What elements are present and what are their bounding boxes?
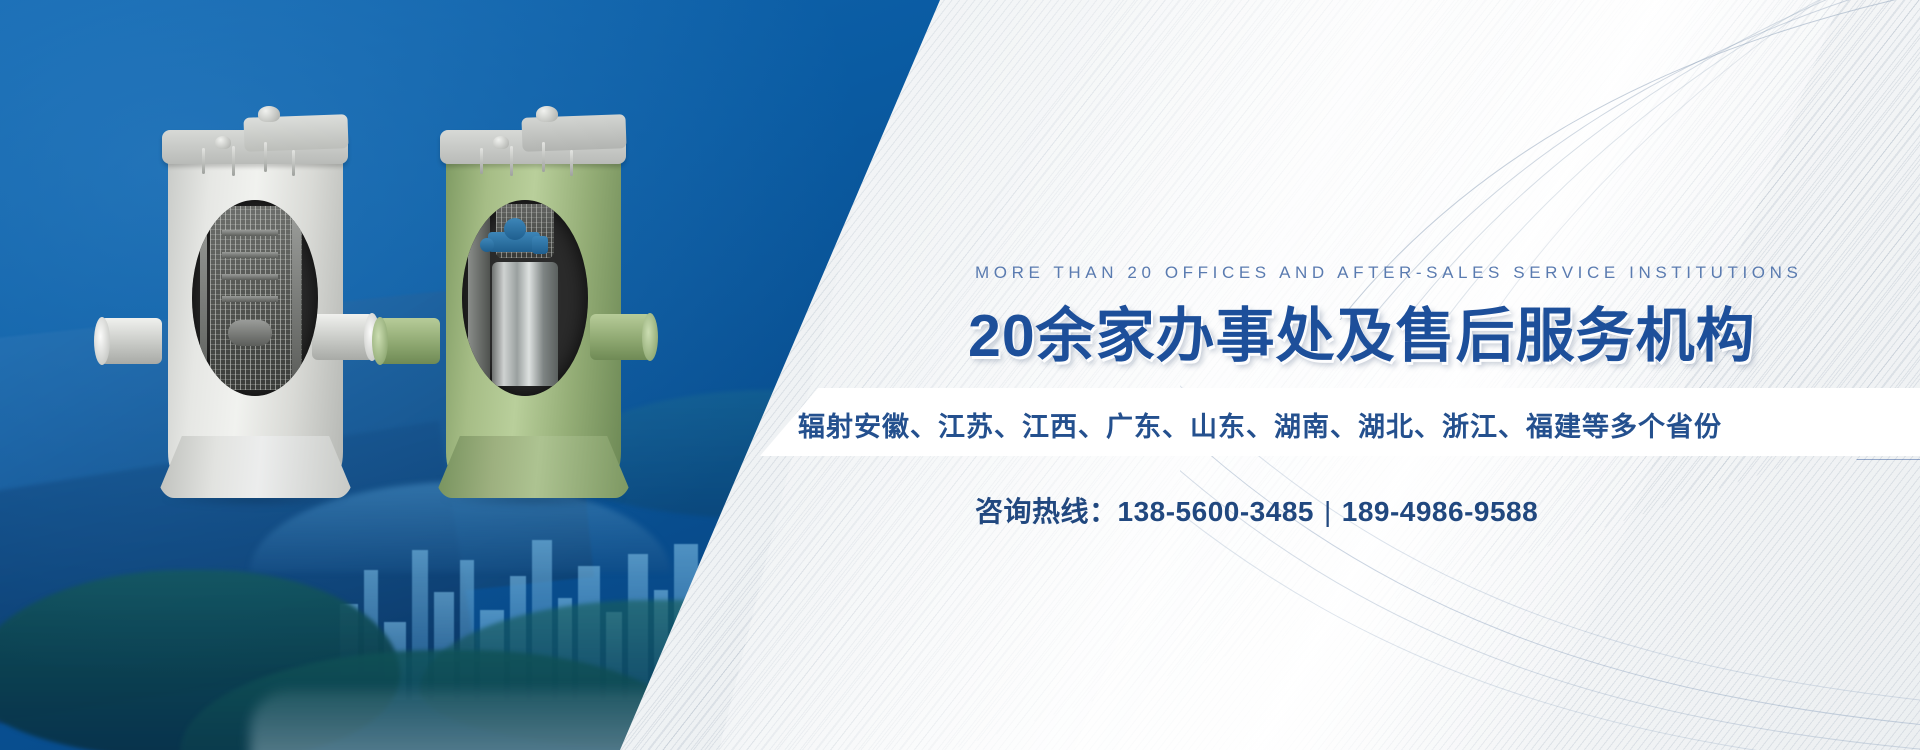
pipe-end-cap (642, 313, 658, 361)
cutaway-window (192, 200, 318, 396)
guide-rod (542, 142, 545, 172)
top-swoosh-arcs (1300, 0, 1920, 320)
blue-valve-assembly (478, 216, 552, 272)
internal-ladder-rung (222, 252, 278, 258)
inlet-pipe (378, 318, 440, 364)
cutaway-window (462, 200, 588, 396)
guide-rod (480, 148, 483, 174)
pipe-end-cap (94, 317, 110, 365)
guide-rod (570, 150, 573, 176)
outlet-pipe (590, 314, 652, 360)
vent-knob-small (493, 136, 509, 149)
hotline-secondary-number[interactable]: 189-4986-9588 (1342, 496, 1538, 527)
product-image-green-pump-station (418, 108, 638, 498)
internal-rail (200, 210, 207, 386)
pump-base (156, 436, 355, 498)
guide-rod (292, 150, 295, 176)
guide-rod (264, 142, 267, 172)
product-image-grey-pump-station (140, 108, 370, 498)
hotline-row: 咨询热线：138-5600-3485|189-4986-9588 (975, 490, 1538, 530)
pipe-end-cap (372, 317, 388, 365)
vent-knob (258, 106, 280, 122)
vent-knob-small (215, 136, 231, 149)
foreground-treeline-left (0, 570, 400, 750)
guide-rod (510, 146, 513, 176)
guide-rod (232, 146, 235, 176)
vent-knob (536, 106, 558, 122)
internal-pump-unit (228, 320, 272, 346)
inlet-pipe (100, 318, 162, 364)
promo-banner: MORE THAN 20 OFFICES AND AFTER-SALES SER… (0, 0, 1920, 750)
guide-rod (202, 148, 205, 174)
hotline-label: 咨询热线： (975, 496, 1118, 527)
internal-cylinder (492, 262, 558, 386)
outlet-pipe (312, 314, 374, 360)
internal-ladder-rung (222, 296, 278, 302)
internal-rail (292, 214, 301, 382)
internal-ladder-rung (222, 230, 278, 236)
pump-base (434, 436, 633, 498)
coverage-text: 辐射安徽、江苏、江西、广东、山东、湖南、湖北、浙江、福建等多个省份 (798, 405, 1722, 444)
foreground-treeline (180, 650, 700, 750)
hotline-separator: | (1314, 496, 1342, 527)
internal-ladder-rung (222, 274, 278, 280)
hotline-primary-number[interactable]: 138-5600-3485 (1118, 496, 1314, 527)
